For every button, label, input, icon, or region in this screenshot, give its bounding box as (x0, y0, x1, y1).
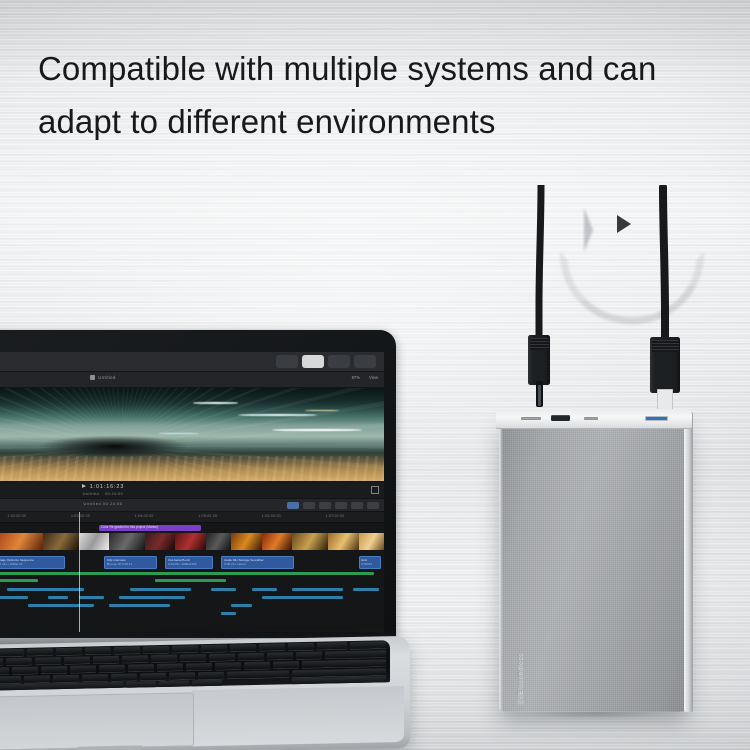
app-titlebar: Untitled 97% View (0, 372, 384, 388)
transport-subtitle: Untitled 00:24:00 (0, 492, 384, 496)
audio-track[interactable] (109, 604, 170, 607)
zoom-icon[interactable] (319, 502, 331, 509)
trackpad[interactable] (0, 692, 194, 750)
drive-brand-logo: Blueendless 蓝硕 (514, 632, 528, 702)
filmstrip-storyline[interactable] (0, 533, 384, 550)
audio-track[interactable] (252, 588, 277, 591)
key[interactable] (140, 673, 166, 681)
key[interactable] (114, 646, 140, 654)
key[interactable] (180, 654, 206, 662)
key[interactable] (99, 665, 125, 673)
drive-brushed-grain (500, 420, 688, 712)
trim-icon[interactable] (287, 502, 299, 509)
key[interactable] (143, 646, 169, 654)
key[interactable] (201, 645, 227, 653)
key[interactable] (53, 675, 79, 683)
clip-thumbnail[interactable] (359, 533, 384, 550)
settings-icon[interactable] (367, 502, 379, 509)
power-cable-path (539, 185, 541, 337)
barrel-tip-pin (538, 385, 541, 406)
view-menu-label[interactable]: View (369, 375, 378, 380)
key[interactable] (35, 657, 61, 665)
drive-left-highlight (499, 422, 503, 710)
play-icon[interactable] (82, 484, 86, 488)
lid-open-notch (78, 745, 142, 750)
timeline-clip[interactable]: Storage Optimize Sequence 4:08 mix • 108… (0, 556, 65, 569)
key[interactable] (6, 658, 32, 666)
video-viewer[interactable]: 1:01:16:23 Untitled 00:24:00 (0, 388, 384, 498)
audio-track[interactable] (130, 588, 191, 591)
timeline-right-tools[interactable] (287, 502, 379, 509)
timeline-clip[interactable]: Cut Aerial B-roll 0:01:06 • 4096x2160 (165, 556, 213, 569)
comment-icon[interactable] (351, 502, 363, 509)
key[interactable] (0, 658, 3, 666)
key[interactable] (0, 649, 24, 657)
marker-label: Color Re-graded for this project (Marker… (99, 525, 201, 530)
laptop-screen: Untitled 97% View (0, 352, 384, 632)
usb-cable-path (663, 187, 665, 341)
key[interactable] (24, 675, 50, 683)
key[interactable] (302, 659, 386, 668)
laptop-base (0, 636, 410, 750)
audio-track[interactable] (155, 579, 226, 582)
drive-body: Blueendless 蓝硕 (500, 420, 688, 712)
clip-thumbnail[interactable] (43, 533, 79, 550)
audio-track[interactable] (7, 588, 83, 591)
clip-thumbnail[interactable] (109, 533, 145, 550)
key[interactable] (273, 661, 299, 669)
clip-sub: 0:01:06 • 4096x2160 (166, 562, 212, 566)
usb-plug-body (650, 337, 680, 393)
key[interactable] (296, 652, 322, 660)
project-title-label: Untitled (98, 375, 115, 380)
key[interactable] (64, 656, 90, 664)
timeline[interactable]: Index Timeline Audio Meters (0, 512, 384, 632)
key[interactable] (259, 643, 285, 651)
clip-thumbnail[interactable] (79, 533, 110, 550)
ruler-tick: 1:02:00:00 (7, 514, 26, 518)
key[interactable] (70, 665, 96, 673)
transport-sub-right: 00:24:00 (105, 492, 123, 496)
key[interactable] (215, 662, 241, 670)
view-button-2[interactable] (302, 355, 324, 368)
app-toolbar (0, 352, 384, 372)
key[interactable] (267, 652, 293, 660)
key[interactable] (230, 644, 256, 652)
key[interactable] (56, 648, 82, 656)
audio-track[interactable] (79, 596, 104, 599)
key[interactable] (0, 667, 9, 675)
key-space[interactable] (0, 682, 123, 693)
ruler-tick: 1:06:00:00 (262, 514, 281, 518)
key[interactable] (151, 655, 177, 663)
key[interactable] (169, 672, 195, 680)
timeline-clip[interactable]: Audio Mix Storage Soundbar 0:00:22 • ste… (221, 556, 294, 569)
blade-icon[interactable] (303, 502, 315, 509)
key[interactable] (350, 641, 386, 649)
external-hard-drive: Blueendless 蓝硕 (500, 420, 688, 712)
titlebar-right: 97% View (352, 375, 378, 380)
product-banner: Compatible with multiple systems and can… (0, 0, 750, 750)
key-arrows[interactable] (292, 676, 386, 685)
ruler-tick: 1:04:00:00 (135, 514, 154, 518)
key[interactable] (244, 662, 270, 670)
view-button-1[interactable] (276, 355, 298, 368)
key[interactable] (126, 681, 156, 689)
audio-track[interactable] (292, 588, 343, 591)
key[interactable] (111, 673, 137, 681)
timecode-value: 1:01:16:23 (90, 484, 124, 490)
laptop-lid: Untitled 97% View (0, 330, 396, 640)
key[interactable] (85, 647, 111, 655)
palm-rest-right (192, 686, 404, 746)
plug-ridges (652, 340, 679, 352)
key[interactable] (238, 653, 264, 661)
index-icon[interactable] (335, 502, 347, 509)
ruler-tick: 1:05:00:00 (198, 514, 217, 518)
view-mode-buttons[interactable] (276, 355, 376, 368)
clip-thumbnail[interactable] (262, 533, 293, 550)
project-title: Untitled (0, 375, 384, 380)
key[interactable] (157, 664, 183, 672)
key[interactable] (172, 645, 198, 653)
timeline-ruler[interactable]: 1:00:00:00 1:01:00:00 1:02:00:00 1:03:00… (0, 512, 384, 523)
view-button-3[interactable] (328, 355, 350, 368)
timeline-tracks[interactable]: 1:00:00:00 1:01:00:00 1:02:00:00 1:03:00… (0, 512, 384, 632)
key[interactable] (128, 664, 154, 672)
laptop: Untitled 97% View (0, 330, 396, 750)
timecode-display: 1:01:16:23 (0, 484, 384, 490)
key[interactable] (325, 650, 386, 658)
key[interactable] (27, 648, 53, 656)
view-button-4[interactable] (354, 355, 376, 368)
audio-track[interactable] (221, 612, 236, 615)
clip-sub: Blu-ray 02 0:00:11 (105, 562, 156, 566)
timeline-toolbar: ▲ ◌ Untitled 00:24:00 (0, 498, 384, 512)
key[interactable] (198, 672, 224, 680)
key[interactable] (12, 667, 38, 675)
key[interactable] (186, 663, 212, 671)
usb3-blue-insert (646, 417, 668, 420)
fullscreen-icon[interactable] (371, 486, 379, 494)
key[interactable] (0, 676, 21, 684)
cable-paths (495, 185, 750, 435)
key[interactable] (93, 656, 119, 664)
audio-track[interactable] (211, 588, 236, 591)
clip-thumbnail[interactable] (292, 533, 328, 550)
audio-track[interactable] (0, 596, 28, 599)
key[interactable] (82, 674, 108, 682)
audio-track[interactable] (0, 572, 374, 575)
key[interactable] (317, 642, 347, 650)
laptop-keyboard[interactable] (0, 640, 390, 694)
key[interactable] (122, 655, 148, 663)
ruler-tick: 1:03:00:00 (71, 514, 90, 518)
audio-track[interactable] (119, 596, 185, 599)
clip-sub: 4:08 mix • 1080p 24 (0, 562, 64, 566)
key[interactable] (227, 670, 289, 678)
micro-usb-port[interactable] (551, 415, 571, 421)
audio-track[interactable] (28, 604, 94, 607)
key[interactable] (209, 653, 235, 661)
barrel-plug-tip (536, 381, 543, 407)
audio-track[interactable] (262, 596, 343, 599)
headline-text: Compatible with multiple systems and can… (38, 42, 738, 149)
usb3-port[interactable] (645, 416, 669, 421)
clip-thumbnail[interactable] (328, 533, 359, 550)
timeline-clip[interactable]: Clip Interview Blu-ray 02 0:00:11 (104, 556, 157, 569)
plug-ridges (530, 338, 549, 350)
audio-track[interactable] (48, 596, 68, 599)
clip-thumbnail[interactable] (206, 533, 231, 550)
clip-sub: 0:00:03 (360, 562, 380, 566)
transport-sub-left: Untitled (83, 492, 99, 496)
project-icon (90, 375, 95, 380)
transport-bar[interactable]: 1:01:16:23 Untitled 00:24:00 (0, 481, 384, 498)
clip-thumbnail[interactable] (0, 533, 43, 550)
clip-thumbnail[interactable] (145, 533, 176, 550)
audio-track[interactable] (231, 604, 251, 607)
drive-right-edge (684, 412, 693, 712)
key[interactable] (159, 680, 189, 688)
playhead[interactable] (79, 512, 80, 632)
audio-track[interactable] (353, 588, 378, 591)
vent-slot (521, 417, 541, 420)
key[interactable] (192, 680, 222, 688)
clip-thumbnail[interactable] (175, 533, 206, 550)
timeline-clip[interactable]: End 0:00:03 (359, 556, 381, 569)
drive-top-face (496, 409, 692, 429)
audio-track[interactable] (0, 579, 38, 582)
ruler-tick: 1:07:00:00 (325, 514, 344, 518)
power-plug-body (528, 335, 550, 385)
cables (495, 185, 750, 435)
clip-thumbnail[interactable] (231, 533, 262, 550)
timeline-marker[interactable]: Color Re-graded for this project (Marker… (99, 525, 201, 531)
brand-name-cn: 蓝硕 (517, 683, 525, 705)
led-indicator (584, 417, 598, 420)
zoom-level-label[interactable]: 97% (352, 375, 360, 380)
key[interactable] (288, 643, 314, 651)
clip-sub: 0:00:22 • stereo (222, 562, 293, 566)
key[interactable] (41, 666, 67, 674)
video-editor-app: Untitled 97% View (0, 352, 384, 632)
